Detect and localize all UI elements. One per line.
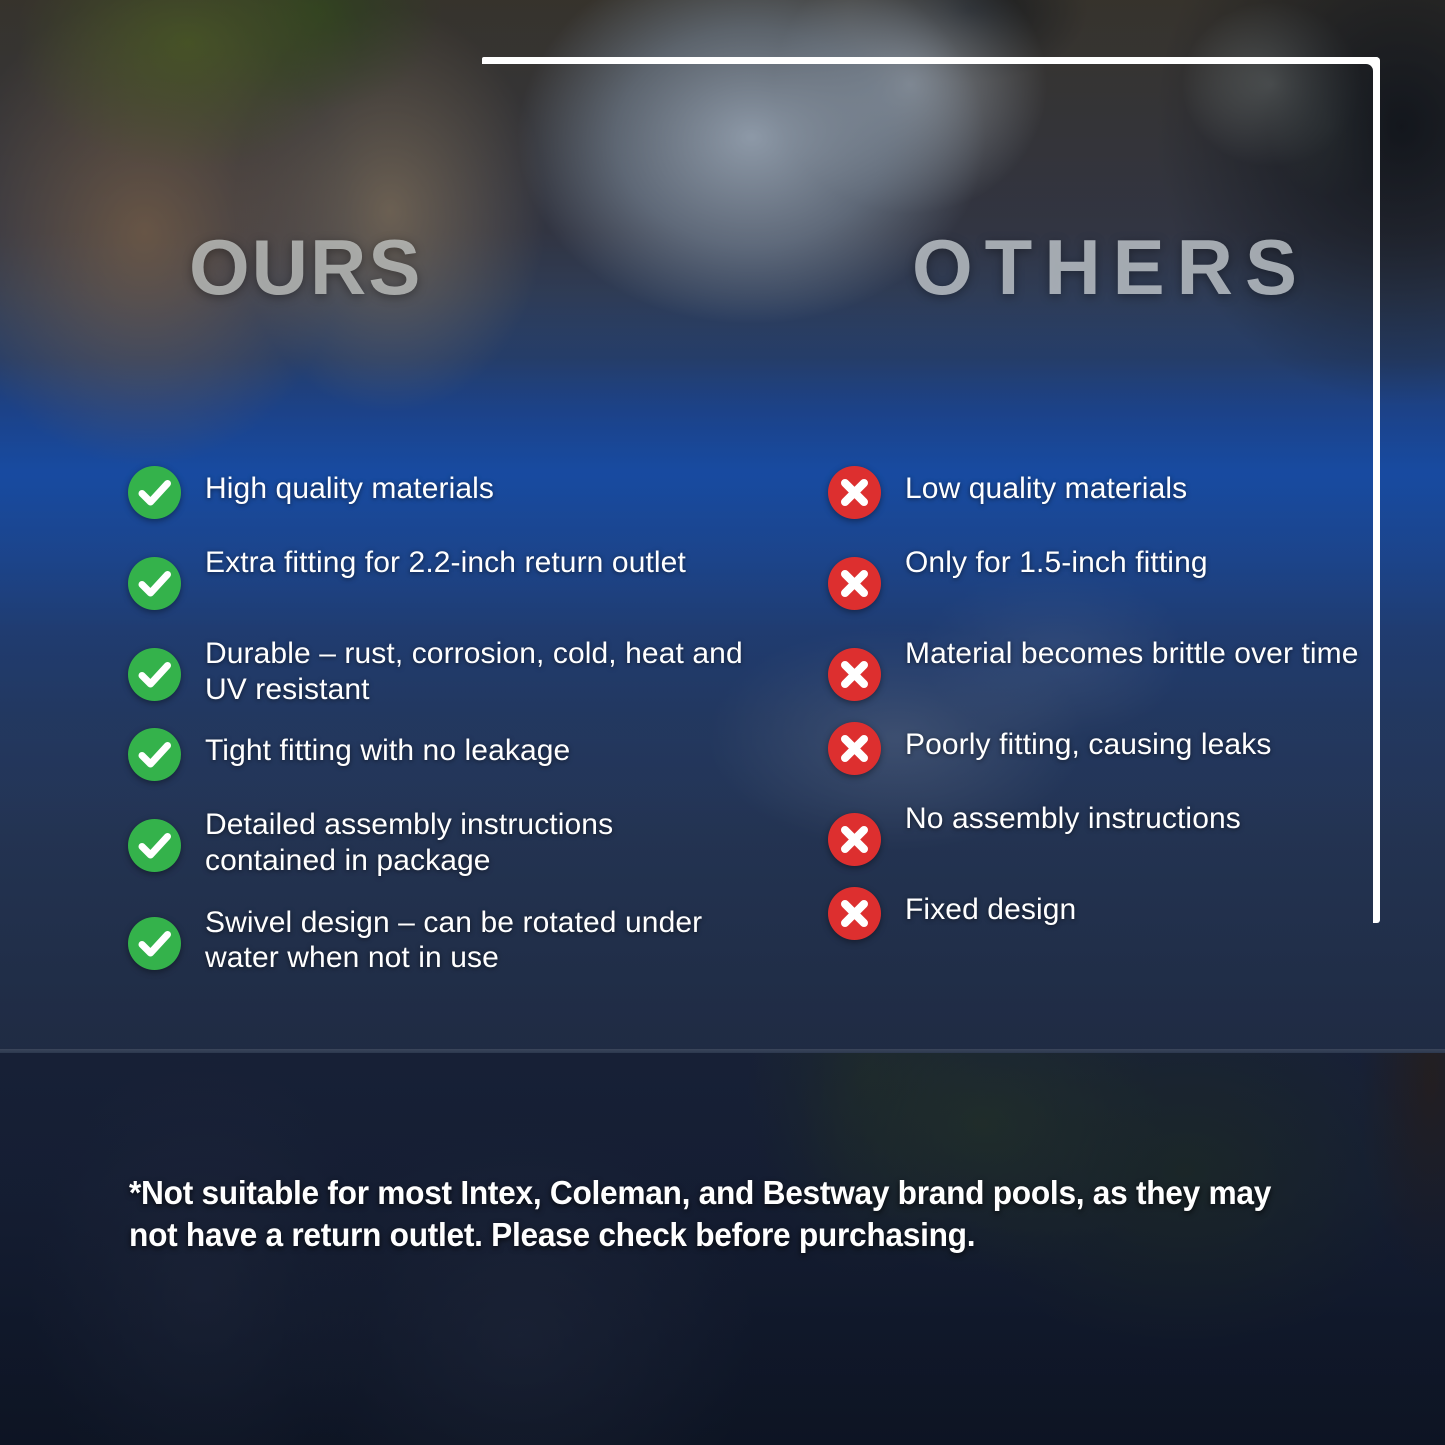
check-icon [128,648,181,701]
list-item: Material becomes brittle over time [828,631,1388,701]
cross-icon [828,887,881,940]
ours-feature-list: High quality materials Extra fitting for… [128,466,748,997]
others-feature-list: Low quality materials Only for 1.5-inch … [828,466,1388,961]
list-item: Fixed design [828,887,1388,940]
list-item-label: Durable – rust, corrosion, cold, heat an… [205,631,748,707]
cross-icon [828,466,881,519]
heading-ours: OURS [189,228,422,306]
list-item-label: Detailed assembly instructions contained… [205,802,748,878]
check-icon [128,819,181,872]
list-item-label: Extra fitting for 2.2-inch return outlet [205,540,686,581]
frame-top-line [482,57,1380,64]
list-item-label: High quality materials [205,466,494,507]
list-item: Poorly fitting, causing leaks [828,722,1388,775]
check-icon [128,557,181,610]
cross-icon [828,557,881,610]
cross-icon [828,722,881,775]
list-item-label: Fixed design [905,887,1076,928]
list-item: Extra fitting for 2.2-inch return outlet [128,540,748,610]
cross-icon [828,813,881,866]
list-item-label: Swivel design – can be rotated under wat… [205,900,748,976]
list-item-label: Low quality materials [905,466,1187,507]
list-item: Durable – rust, corrosion, cold, heat an… [128,631,748,707]
list-item-label: Only for 1.5-inch fitting [905,540,1208,581]
list-item-label: No assembly instructions [905,796,1241,837]
list-item: Detailed assembly instructions contained… [128,802,748,878]
check-icon [128,466,181,519]
check-icon [128,917,181,970]
list-item-label: Tight fitting with no leakage [205,728,570,769]
list-item-label: Poorly fitting, causing leaks [905,722,1271,763]
list-item: Tight fitting with no leakage [128,728,748,781]
list-item: Low quality materials [828,466,1388,519]
check-icon [128,728,181,781]
list-item: High quality materials [128,466,748,519]
comparison-infographic: OURS OTHERS High quality materials Extra… [0,0,1445,1445]
disclaimer-text: *Not suitable for most Intex, Coleman, a… [129,1172,1271,1255]
background-seam [0,1049,1445,1055]
list-item: No assembly instructions [828,796,1388,866]
heading-others: OTHERS [912,228,1309,306]
list-item: Only for 1.5-inch fitting [828,540,1388,610]
list-item: Swivel design – can be rotated under wat… [128,900,748,976]
list-item-label: Material becomes brittle over time [905,631,1359,672]
cross-icon [828,648,881,701]
